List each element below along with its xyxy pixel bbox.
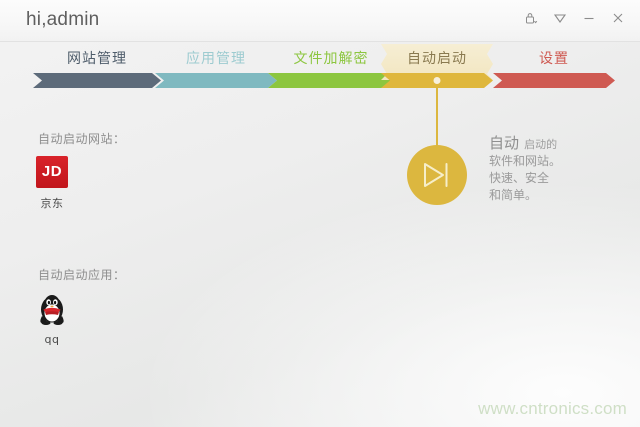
nav-tab-label: 设置	[493, 50, 615, 68]
nav-tab-bar	[493, 73, 615, 88]
nav-tab-bar	[268, 73, 394, 88]
main-navigation: 网站管理 应用管理 文件加解密 自动启动 设置	[0, 44, 640, 88]
minimize-icon[interactable]	[581, 10, 597, 26]
title-bar: hi,admin	[0, 0, 640, 42]
nav-tab-label: 网站管理	[33, 50, 161, 68]
qq-penguin-icon	[35, 292, 69, 326]
nav-tab-settings[interactable]: 设置	[493, 44, 615, 88]
description-line4: 和简单。	[489, 187, 599, 204]
nav-tab-label: 自动启动	[381, 50, 493, 68]
chevron-down-icon[interactable]	[552, 10, 568, 26]
nav-tab-bar	[33, 73, 161, 88]
close-icon[interactable]	[610, 10, 626, 26]
window-controls	[523, 10, 626, 26]
nav-tab-active-dot	[434, 77, 441, 84]
description-line3: 快速、安全	[489, 170, 599, 187]
nav-tab-bar	[155, 73, 277, 88]
autostart-action-button[interactable]	[407, 145, 467, 205]
autostart-description: 自动 启动的 软件和网站。 快速、安全 和简单。	[489, 134, 599, 204]
page-title: hi,admin	[26, 9, 99, 31]
nav-tab-autostart[interactable]: 自动启动	[381, 44, 493, 88]
autostart-website-item[interactable]: JD 京东	[20, 156, 84, 211]
nav-tab-label: 文件加解密	[268, 50, 394, 68]
description-line2: 软件和网站。	[489, 153, 599, 170]
item-label: qq	[20, 333, 84, 346]
description-strong: 自动	[489, 134, 519, 152]
section-label-websites: 自动启动网站：	[38, 130, 126, 147]
nav-tab-apps[interactable]: 应用管理	[155, 44, 277, 88]
app-window: hi,admin	[0, 0, 640, 427]
item-label: 京东	[20, 195, 84, 211]
nav-tab-websites[interactable]: 网站管理	[33, 44, 161, 88]
jd-logo-icon: JD	[36, 156, 68, 188]
connector-line	[436, 86, 438, 146]
nav-tab-file-encryption[interactable]: 文件加解密	[268, 44, 394, 88]
watermark: www.cntronics.com	[478, 399, 627, 419]
section-label-apps: 自动启动应用：	[38, 266, 126, 283]
skip-forward-icon	[423, 162, 451, 188]
autostart-app-item[interactable]: qq	[20, 292, 84, 346]
lock-icon[interactable]	[523, 10, 539, 26]
nav-tab-label: 应用管理	[155, 50, 277, 68]
description-line1-rest: 启动的	[524, 138, 557, 151]
